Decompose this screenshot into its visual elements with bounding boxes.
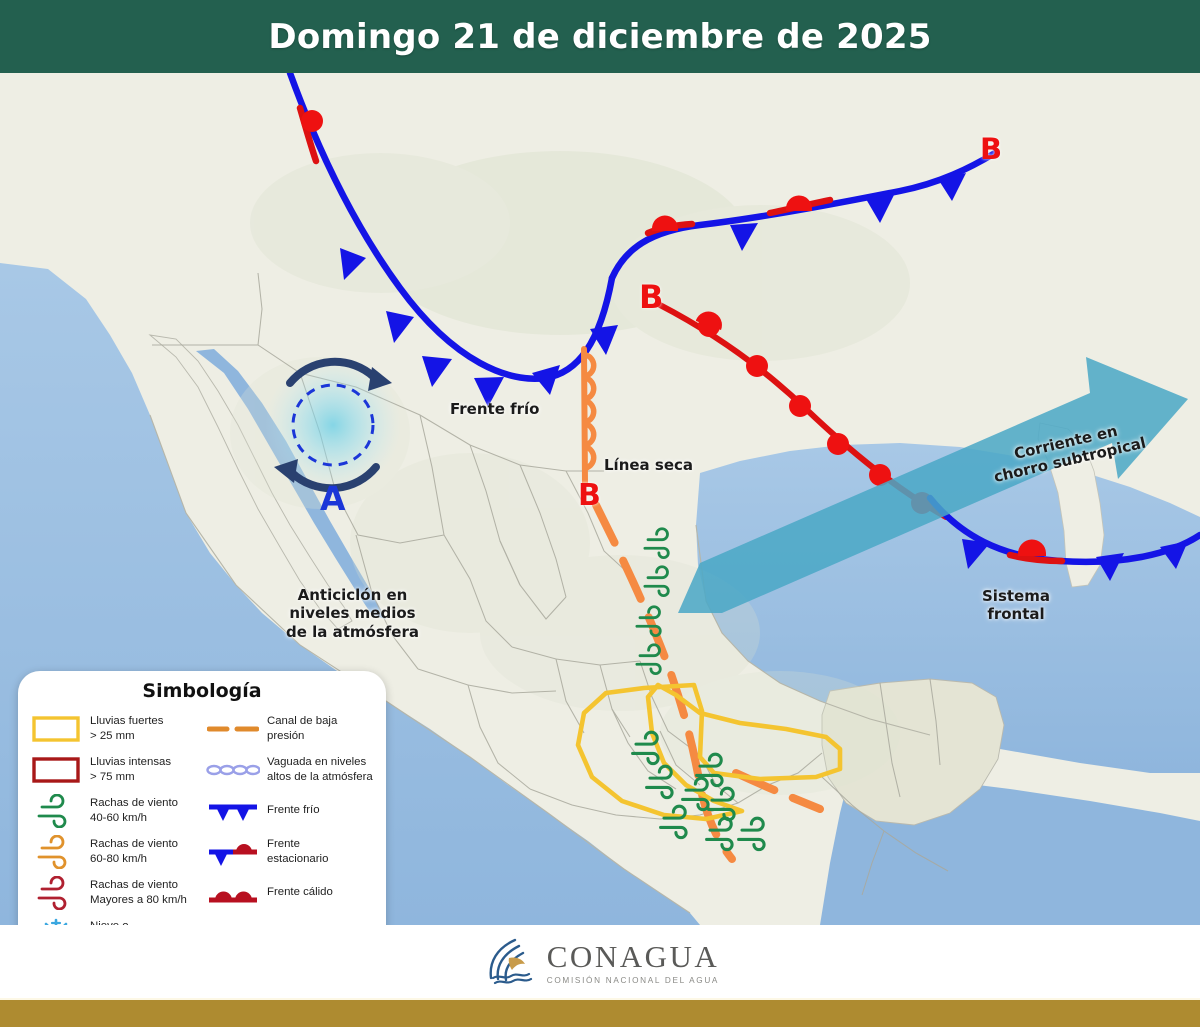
legend-label: Lluvias fuertes > 25 mm: [90, 714, 163, 742]
footer-gold-bar: [0, 998, 1200, 1027]
legend-label: Frente cálido: [267, 885, 333, 899]
weather-map-page: Domingo 21 de diciembre de 2025: [0, 0, 1200, 1027]
legend-label: Rachas de viento 40-60 km/h: [90, 796, 178, 824]
legend-title: Simbología: [28, 680, 376, 702]
legend-item-wind-60-80[interactable]: Rachas de viento 60-80 km/h: [28, 831, 199, 872]
legend-label: Rachas de viento 60-80 km/h: [90, 837, 178, 865]
legend-label: Rachas de viento Mayores a 80 km/h: [90, 878, 187, 906]
legend-label: Lluvias intensas > 75 mm: [90, 755, 171, 783]
legend-item-heavy-rain[interactable]: Lluvias fuertes > 25 mm: [28, 708, 199, 749]
legend-item-low-pressure-channel[interactable]: Canal de baja presión: [205, 708, 376, 749]
legend-left-column: Lluvias fuertes > 25 mm Lluvias intensas…: [28, 708, 199, 925]
header-bar: Domingo 21 de diciembre de 2025: [0, 0, 1200, 73]
conagua-logo: CONAGUA COMISIÓN NACIONAL DEL AGUA: [481, 936, 720, 988]
legend-panel[interactable]: Simbología Lluvias fuertes > 25 mm: [18, 671, 386, 925]
warm-front-icon: [205, 874, 261, 912]
legend-item-cold-front[interactable]: Frente frío: [205, 790, 376, 831]
anticyclone-symbol[interactable]: [265, 357, 401, 493]
legend-item-dry-line[interactable]: Línea seca: [205, 913, 376, 925]
legend-item-stationary-front[interactable]: Frente estacionario: [205, 831, 376, 872]
legend-item-warm-front[interactable]: Frente cálido: [205, 872, 376, 913]
heavy-rain-box-icon: [28, 710, 84, 748]
legend-item-wind-over-80[interactable]: Rachas de viento Mayores a 80 km/h: [28, 872, 199, 913]
wind-gust-red-icon: [28, 874, 84, 912]
conagua-wave-eagle-icon: [481, 936, 537, 988]
legend-item-intense-rain[interactable]: Lluvias intensas > 75 mm: [28, 749, 199, 790]
low-pressure-channel-icon: [205, 710, 261, 748]
page-title: Domingo 21 de diciembre de 2025: [268, 17, 931, 57]
legend-item-snow[interactable]: Nieve o aguanieve: [28, 913, 199, 925]
footer-logo-area: CONAGUA COMISIÓN NACIONAL DEL AGUA: [0, 925, 1200, 998]
map-canvas[interactable]: Frente frío Línea seca Anticiclón en niv…: [0, 73, 1200, 925]
legend-label: Frente frío: [267, 803, 320, 817]
stationary-front-icon: [205, 833, 261, 871]
legend-label: Canal de baja presión: [267, 714, 337, 742]
upper-level-trough-icon: [205, 751, 261, 789]
legend-label: Frente estacionario: [267, 837, 328, 865]
wind-gust-green-icon: [28, 792, 84, 830]
wind-gust-orange-icon: [28, 833, 84, 871]
legend-right-column: Canal de baja presión: [205, 708, 376, 925]
conagua-wordmark: CONAGUA: [547, 939, 720, 975]
intense-rain-box-icon: [28, 751, 84, 789]
dry-line-icon: [205, 915, 261, 926]
legend-label: Vaguada en niveles altos de la atmósfera: [267, 755, 373, 783]
conagua-subtitle: COMISIÓN NACIONAL DEL AGUA: [547, 976, 720, 985]
snow-icon: [28, 915, 84, 926]
legend-item-upper-trough[interactable]: Vaguada en niveles altos de la atmósfera: [205, 749, 376, 790]
legend-item-wind-40-60[interactable]: Rachas de viento 40-60 km/h: [28, 790, 199, 831]
cold-front-icon: [205, 792, 261, 830]
